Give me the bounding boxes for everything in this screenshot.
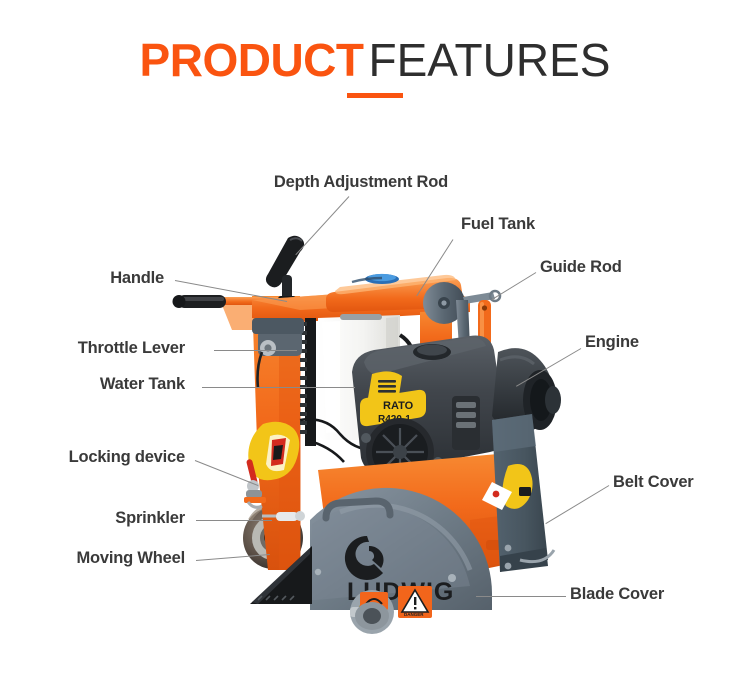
danger-text: DANGER — [404, 612, 424, 617]
callout-fuel-tank: Fuel Tank — [0, 216, 535, 233]
callout-sprinkler: Sprinkler — [0, 510, 185, 527]
callout-water-tank: Water Tank — [0, 376, 185, 393]
leader-water-tank — [202, 387, 355, 388]
product-features-page: PRODUCTFEATURES — [0, 0, 750, 693]
leader-throttle-lever — [214, 350, 297, 351]
callout-moving-wheel: Moving Wheel — [0, 550, 185, 567]
callout-belt-cover: Belt Cover — [613, 474, 694, 491]
callout-locking-device: Locking device — [0, 449, 185, 466]
leader-sprinkler — [196, 520, 272, 521]
callout-blade-cover: Blade Cover — [570, 586, 664, 603]
callout-engine: Engine — [585, 334, 639, 351]
engine-brand-decal-text: RATO — [383, 400, 414, 412]
callout-depth-adjustment-rod: Depth Adjustment Rod — [0, 174, 448, 191]
callout-throttle-lever: Throttle Lever — [0, 340, 185, 357]
callout-handle: Handle — [0, 270, 164, 287]
leader-blade-cover — [476, 596, 566, 597]
callout-guide-rod: Guide Rod — [540, 259, 622, 276]
front-wheel — [355, 602, 389, 630]
depth-gear-rack — [300, 318, 316, 446]
